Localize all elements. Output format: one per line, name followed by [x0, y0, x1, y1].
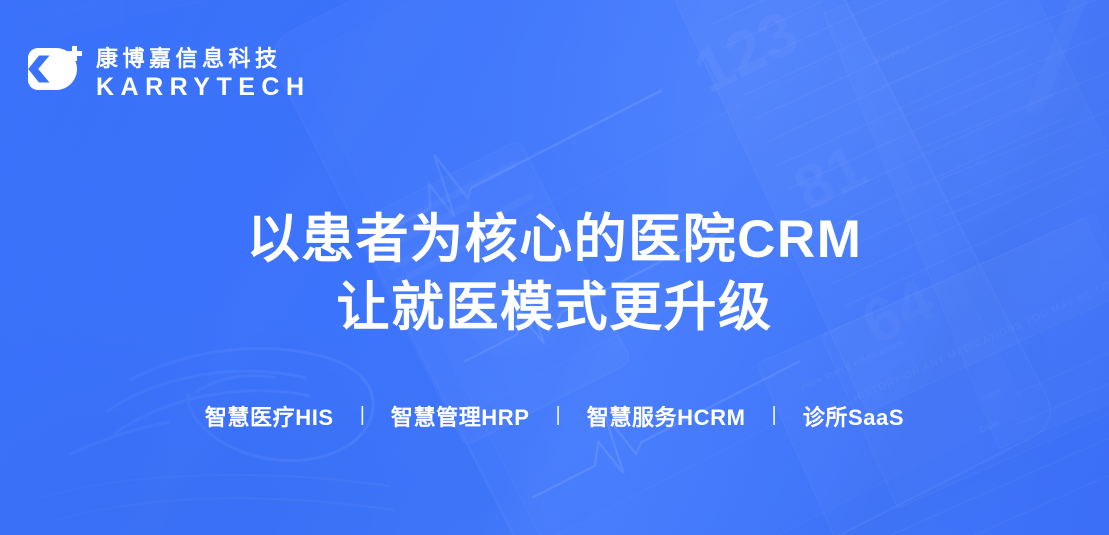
product-nav-strip: 智慧医疗HIS | 智慧管理HRP | 智慧服务HCRM | 诊所SaaS: [0, 400, 1109, 432]
logo-english-name: KARRYTECH: [96, 74, 311, 102]
nav-item-saas[interactable]: 诊所SaaS: [777, 400, 930, 432]
headline-line-1: 以患者为核心的医院CRM: [0, 206, 1109, 274]
banner-content: 康博嘉信息科技 KARRYTECH 以患者为核心的医院CRM 让就医模式更升级 …: [0, 0, 1109, 535]
karrytech-logo-mark-icon: [22, 44, 84, 104]
nav-item-hcrm[interactable]: 智慧服务HCRM: [561, 400, 772, 432]
nav-separator: |: [360, 405, 365, 427]
headline-line-2: 让就医模式更升级: [0, 274, 1109, 342]
nav-separator: |: [556, 405, 561, 427]
nav-item-hrp[interactable]: 智慧管理HRP: [365, 400, 556, 432]
brand-logo[interactable]: 康博嘉信息科技 KARRYTECH: [22, 44, 311, 104]
headline: 以患者为核心的医院CRM 让就医模式更升级: [0, 206, 1109, 342]
nav-separator: |: [772, 405, 777, 427]
logo-chinese-name: 康博嘉信息科技: [96, 46, 311, 72]
logo-wordmark: 康博嘉信息科技 KARRYTECH: [96, 46, 311, 101]
hero-banner: command 123 81: [0, 0, 1109, 535]
nav-item-his[interactable]: 智慧医疗HIS: [179, 400, 360, 432]
